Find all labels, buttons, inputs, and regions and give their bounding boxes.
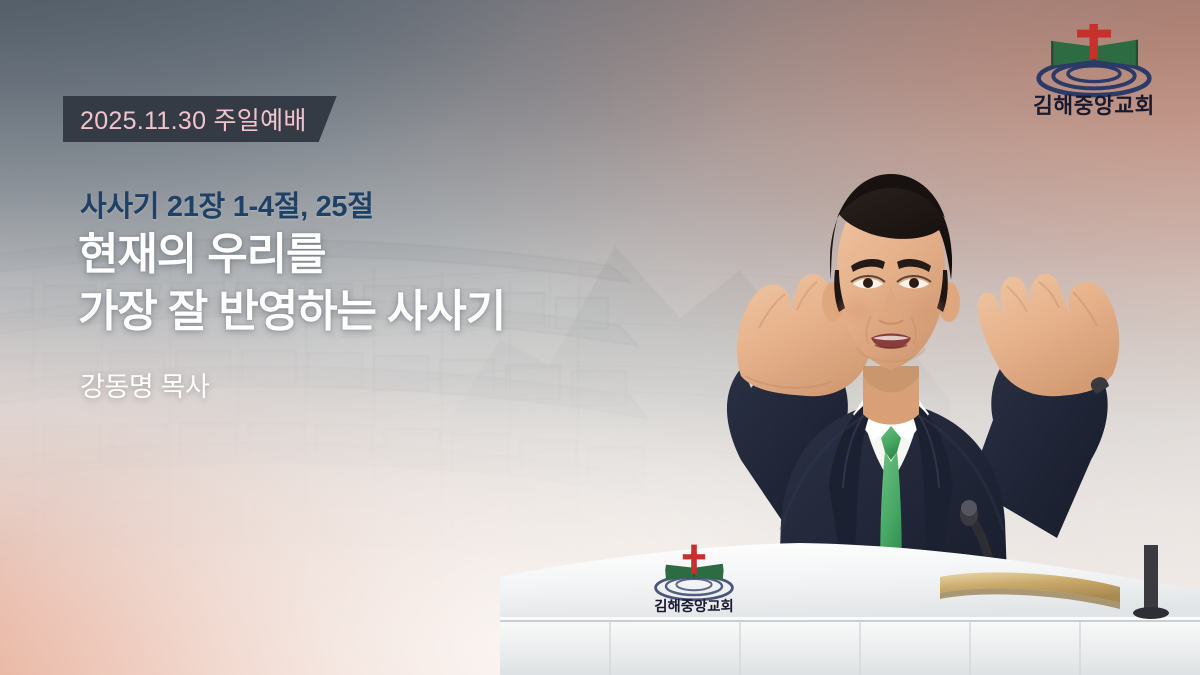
service-date-badge[interactable]: 2025.11.30 주일예배	[63, 96, 337, 142]
church-emblem-icon	[1039, 24, 1150, 95]
sermon-title-slide: 김해중앙교회 2025.11.30 주일예배 사사기 21장 1-4절, 25절…	[0, 0, 1200, 675]
church-name-wordmark: 김해중앙교회	[1033, 94, 1155, 118]
podium: 김해중앙교회	[500, 525, 1200, 675]
church-logo[interactable]: 김해중앙교회	[1030, 24, 1158, 120]
podium-church-name: 김해중앙교회	[654, 597, 733, 615]
